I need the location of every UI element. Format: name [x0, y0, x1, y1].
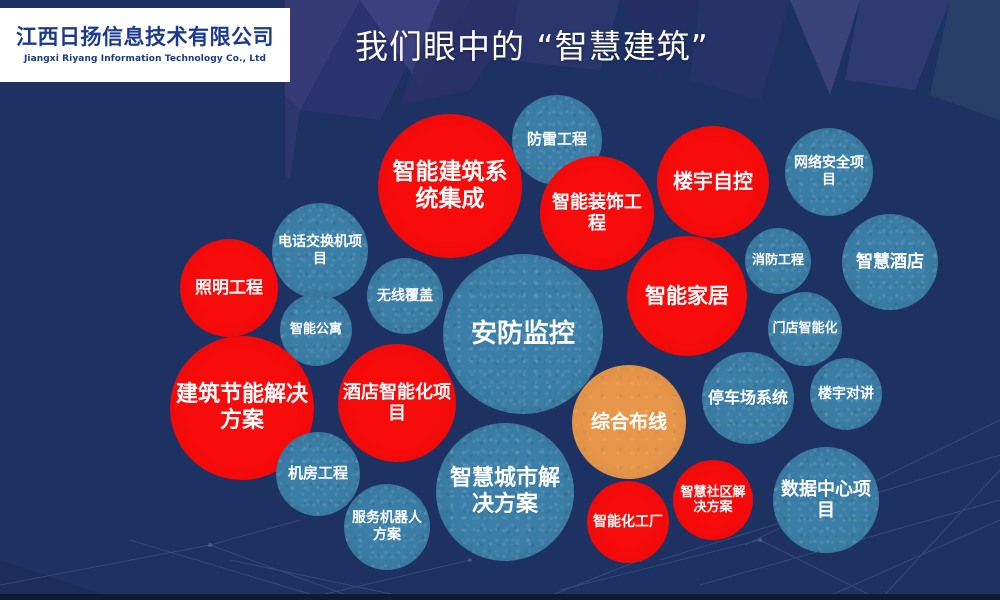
- bubble-label: 酒店智能化项目: [342, 382, 452, 424]
- bubble-label: 消防工程: [749, 253, 807, 268]
- bubble-label: 智能装饰工程: [544, 192, 650, 234]
- bubble-23[interactable]: 智慧社区解决方案: [673, 460, 753, 540]
- slide-canvas: 江西日扬信息技术有限公司 Jiangxi Riyang Information …: [0, 0, 1000, 600]
- bubble-label: 智能化工厂: [591, 514, 665, 531]
- bubble-label: 智能建筑系统集成: [382, 159, 518, 213]
- bubble-17[interactable]: 停车场系统: [702, 352, 794, 444]
- bubble-5[interactable]: 电话交换机项目: [272, 203, 368, 299]
- bubble-label: 智慧酒店: [846, 252, 934, 272]
- bubble-3[interactable]: 楼宇自控: [657, 126, 769, 238]
- bubble-20[interactable]: 智慧城市解决方案: [436, 423, 574, 561]
- bubble-label: 安防监控: [447, 319, 599, 350]
- bubble-24[interactable]: 数据中心项目: [773, 447, 879, 553]
- bubble-2[interactable]: 智能装饰工程: [540, 156, 654, 270]
- bubble-label: 门店智能化: [772, 321, 838, 336]
- bottom-bar: [0, 594, 1000, 600]
- bubble-label: 综合布线: [576, 411, 682, 433]
- bubble-label: 楼宇对讲: [814, 386, 878, 403]
- bubble-label: 智慧城市解决方案: [440, 466, 570, 518]
- bubble-label: 服务机器人方案: [348, 510, 426, 543]
- bubble-21[interactable]: 服务机器人方案: [344, 484, 430, 570]
- bubble-7[interactable]: 无线覆盖: [367, 258, 443, 334]
- bubble-19[interactable]: 机房工程: [276, 432, 360, 516]
- bubble-9[interactable]: 消防工程: [745, 228, 811, 294]
- bubble-0[interactable]: 智能建筑系统集成: [378, 114, 522, 258]
- bubble-label: 停车场系统: [706, 389, 790, 408]
- bubble-label: 无线覆盖: [371, 288, 439, 305]
- bubble-16[interactable]: 综合布线: [572, 365, 686, 479]
- bubble-10[interactable]: 智慧酒店: [842, 214, 938, 310]
- bubble-22[interactable]: 智能化工厂: [587, 481, 669, 563]
- bubble-label: 机房工程: [280, 465, 356, 483]
- bubble-label: 照明工程: [184, 278, 274, 298]
- bubble-12[interactable]: 智能家居: [627, 236, 747, 356]
- bubble-4[interactable]: 网络安全项目: [785, 128, 873, 216]
- bubble-18[interactable]: 楼宇对讲: [810, 358, 882, 430]
- bubble-label: 智能家居: [631, 284, 743, 309]
- bubble-label: 防雷工程: [516, 131, 598, 149]
- bubble-label: 建筑节能解决方案: [174, 382, 310, 434]
- bubble-label: 楼宇自控: [661, 170, 765, 194]
- bubble-label: 智能公寓: [284, 322, 348, 337]
- bubble-label: 网络安全项目: [789, 155, 869, 188]
- bubble-label: 智慧社区解决方案: [677, 485, 749, 516]
- bubble-label: 电话交换机项目: [276, 234, 364, 267]
- bubble-label: 数据中心项目: [777, 479, 875, 521]
- bubble-6[interactable]: 照明工程: [180, 239, 278, 337]
- bubble-cluster: 智能建筑系统集成防雷工程智能装饰工程楼宇自控网络安全项目电话交换机项目照明工程无…: [0, 0, 1000, 600]
- bubble-15[interactable]: 酒店智能化项目: [338, 344, 456, 462]
- bubble-11[interactable]: 安防监控: [443, 254, 603, 414]
- bubble-13[interactable]: 门店智能化: [768, 292, 842, 366]
